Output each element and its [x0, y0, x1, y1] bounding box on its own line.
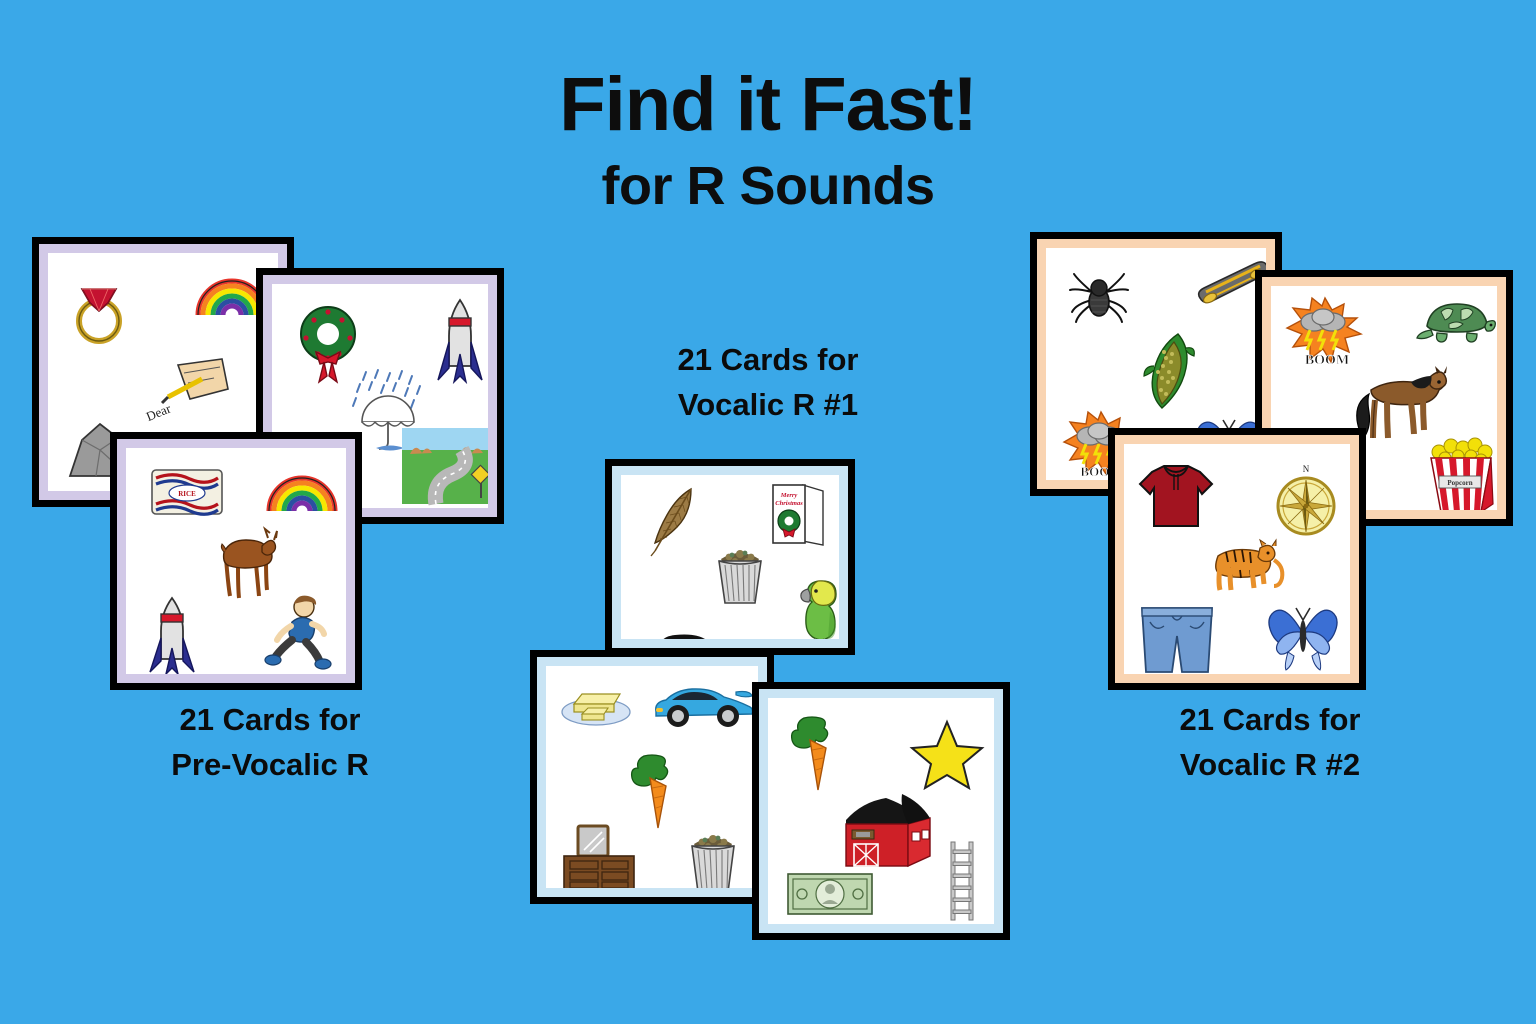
page-title: Find it Fast!	[0, 66, 1536, 144]
rocket-icon	[436, 298, 484, 390]
shorts-icon	[1138, 602, 1216, 674]
card-mat: N	[1115, 435, 1359, 683]
caption-line-2: Vocalic R #1	[568, 383, 968, 428]
garbage-can-icon	[684, 826, 742, 888]
feather-icon	[643, 485, 701, 557]
letter-word-text: Dear	[144, 400, 174, 424]
vocalic1-card-2[interactable]	[530, 650, 774, 904]
boom-text: BOOM	[1305, 353, 1349, 368]
rice-package-icon: RICE	[150, 466, 224, 518]
sports-car-icon	[649, 625, 731, 639]
card-face: N	[1124, 444, 1350, 674]
card-face	[546, 666, 758, 888]
page-subtitle: for R Sounds	[0, 155, 1536, 217]
caption-line-1: 21 Cards for	[1060, 698, 1480, 743]
turtle-icon	[1409, 300, 1497, 344]
corn-icon	[1142, 332, 1196, 410]
christmas-card-line1: Merry	[780, 492, 798, 499]
caption-pre-vocalic-r: 21 Cards for Pre-Vocalic R	[60, 698, 480, 788]
pre-vocalic-card-3[interactable]: RICE	[110, 432, 362, 690]
card-face	[768, 698, 994, 924]
caption-line-1: 21 Cards for	[568, 338, 968, 383]
rainbow-icon	[264, 468, 340, 512]
compass-icon: N	[1272, 462, 1340, 538]
caption-vocalic-r-1: 21 Cards for Vocalic R #1	[568, 338, 968, 428]
road-icon	[402, 428, 488, 504]
thunderstorm-icon: BOOM	[1285, 296, 1365, 366]
shirt-icon	[1138, 462, 1214, 530]
rocket-icon	[148, 596, 196, 674]
runner-icon	[264, 594, 334, 672]
popcorn-icon: Popcorn	[1425, 434, 1497, 510]
parrot-icon	[796, 577, 839, 639]
caption-line-2: Pre-Vocalic R	[60, 743, 480, 788]
vocalic1-card-3[interactable]	[752, 682, 1010, 940]
car-icon	[650, 678, 754, 728]
ladder-icon	[948, 842, 976, 920]
caption-line-1: 21 Cards for	[60, 698, 480, 743]
popcorn-label-text: Popcorn	[1447, 479, 1472, 487]
carrot-icon	[630, 752, 684, 832]
reindeer-icon	[218, 528, 280, 600]
caption-line-2: Vocalic R #2	[1060, 743, 1480, 788]
star-icon	[910, 720, 984, 792]
carrot-icon	[790, 714, 844, 794]
spider-icon	[1066, 270, 1130, 328]
christmas-card-icon: Merry Christmas	[769, 483, 825, 551]
vocalic2-card-3[interactable]: N	[1108, 428, 1366, 690]
caption-vocalic-r-2: 21 Cards for Vocalic R #2	[1060, 698, 1480, 788]
card-face: RICE	[126, 448, 346, 674]
dresser-icon	[562, 824, 638, 888]
vocalic1-card-1[interactable]: Merry Christmas	[605, 459, 855, 655]
compass-north-text: N	[1303, 464, 1310, 474]
horse-icon	[1353, 368, 1449, 444]
card-mat	[759, 689, 1003, 933]
card-face: Merry Christmas	[621, 475, 839, 639]
garbage-can-icon	[711, 541, 769, 605]
card-mat: Merry Christmas	[612, 466, 848, 648]
barn-icon	[842, 794, 932, 868]
dollar-icon	[786, 872, 874, 916]
butter-icon	[560, 686, 632, 726]
ring-icon	[70, 273, 128, 345]
christmas-card-line2: Christmas	[775, 500, 803, 507]
rice-label-text: RICE	[178, 490, 196, 498]
hand-writing-letter-icon: Dear	[144, 353, 232, 425]
card-mat: RICE	[117, 439, 355, 683]
poster-canvas: Find it Fast! for R Sounds	[0, 0, 1536, 1024]
card-mat	[537, 657, 767, 897]
tiger-icon	[1204, 542, 1284, 596]
butterfly-icon	[1268, 602, 1338, 672]
